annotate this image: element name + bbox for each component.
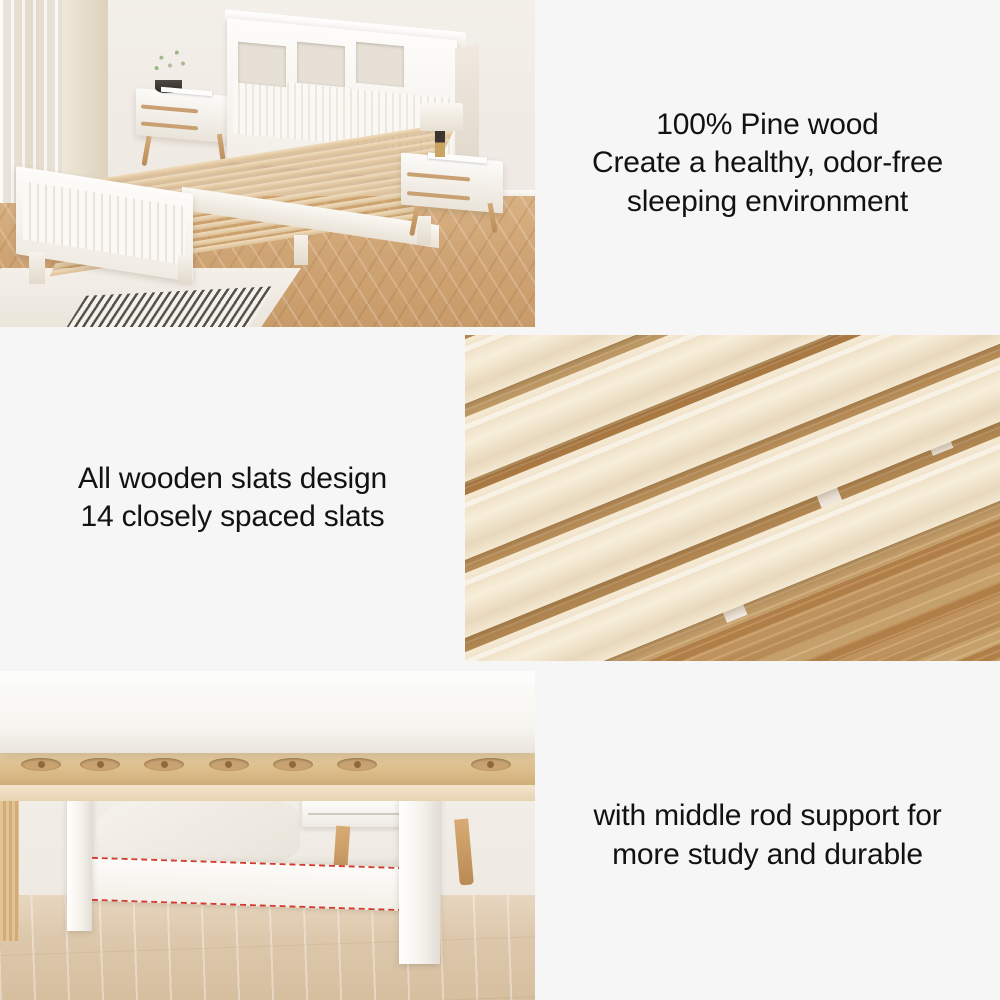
bed-leg [29,252,45,285]
product-infographic: 100% Pine wood Create a healthy, odor-fr… [0,0,1000,1000]
caption-line: more study and durable [593,836,941,874]
beam-lower-edge [0,785,535,801]
headboard-cubby [238,42,286,88]
caption-line: Create a healthy, odor-free [592,144,943,182]
drawer-handle [142,121,198,130]
table-lamp-shade [420,103,463,131]
caption-line: All wooden slats design [78,460,387,498]
drawer-handle [142,104,198,113]
bedding-behind [96,789,299,868]
potted-plant [147,44,195,83]
slats-closeup-photo [465,335,1000,661]
drawer-handle [407,191,470,201]
caption-line: sleeping environment [592,183,943,221]
caption-line: 100% Pine wood [592,106,943,144]
bed-leg [417,216,431,245]
pine-wood-text-panel: 100% Pine wood Create a healthy, odor-fr… [535,0,1000,327]
slats-design-caption: All wooden slats design 14 closely space… [64,460,401,536]
middle-rod-text-panel: with middle rod support for more study a… [535,671,1000,1000]
panel-row-3: with middle rod support for more study a… [0,671,1000,1000]
headboard-cubby [356,42,404,88]
caption-line: with middle rod support for [593,797,941,835]
pine-support-beam [0,753,535,784]
panel-row-2: All wooden slats design 14 closely space… [0,335,1000,661]
drawer-seam [308,813,410,815]
table-lamp-base [435,131,445,157]
screw-hole [209,758,249,771]
footboard-beadboard [23,181,185,265]
pine-wood-caption: 100% Pine wood Create a healthy, odor-fr… [578,106,957,220]
bedroom-scene-photo [0,0,535,327]
bed-leg [294,235,308,264]
drawer-handle [407,172,470,182]
nightstand-left [136,88,227,143]
middle-rod-support-photo [0,671,535,1000]
panel-row-1: 100% Pine wood Create a healthy, odor-fr… [0,0,1000,327]
bed-frame-rail [0,671,535,753]
middle-rod-caption: with middle rod support for more study a… [579,797,955,873]
pine-slat-group [465,335,1000,661]
caption-line: 14 closely spaced slats [78,498,387,536]
bed-leg [178,255,192,284]
slats-design-text-panel: All wooden slats design 14 closely space… [0,335,465,661]
curtain-panel [62,0,108,186]
headboard-cubby [297,42,345,88]
